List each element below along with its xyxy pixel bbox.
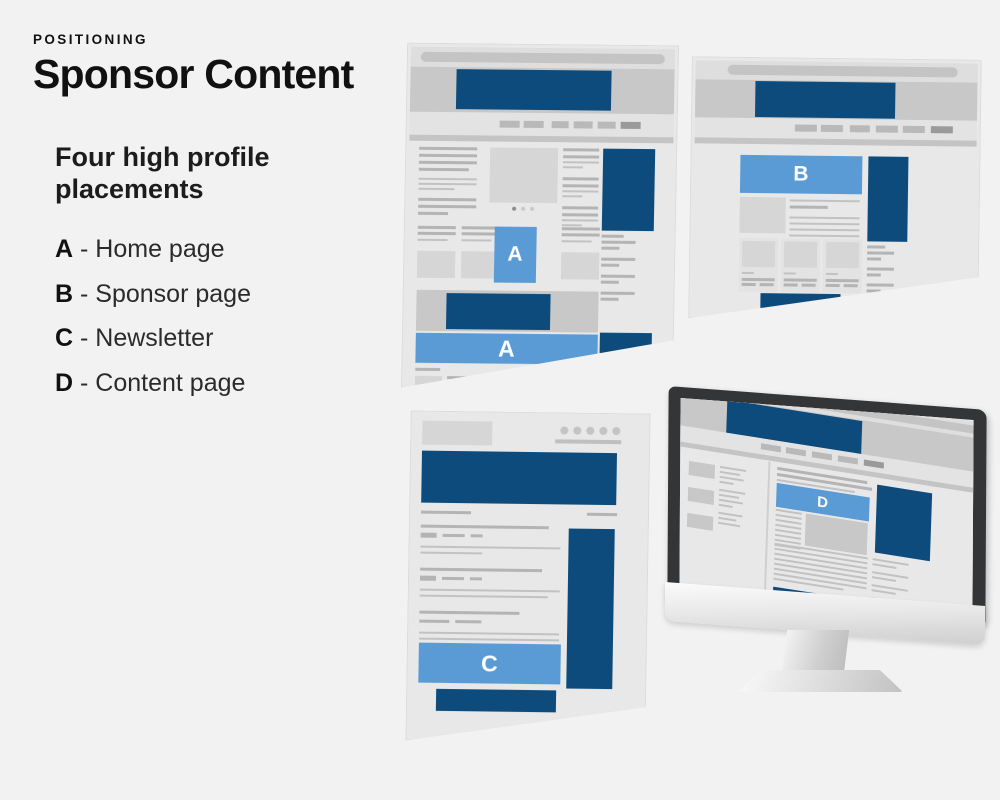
- nav-item[interactable]: [821, 125, 843, 132]
- eyebrow-label: POSITIONING: [33, 32, 393, 47]
- nav-item[interactable]: [598, 122, 616, 129]
- card[interactable]: [781, 238, 821, 292]
- article-right-column: [562, 148, 601, 226]
- sidebar-ad-top: [602, 149, 655, 232]
- newsletter-mockup: C: [405, 410, 650, 743]
- content-column-divider: [763, 461, 770, 610]
- list-item: A - Home page: [55, 227, 393, 272]
- nav-item[interactable]: [552, 121, 569, 128]
- page-title: Sponsor Content: [33, 53, 393, 96]
- legend-key: D: [55, 369, 73, 397]
- legend-label: Sponsor page: [95, 280, 251, 308]
- monitor-base: [738, 670, 903, 692]
- legend-dash: -: [80, 324, 88, 352]
- article-left-column: [418, 147, 484, 216]
- sidebar-ad: [875, 485, 932, 562]
- nav-item-active[interactable]: [864, 459, 884, 468]
- feature-image-placeholder: [739, 197, 786, 234]
- placement-b-banner: B: [740, 155, 863, 194]
- legend-label: Content page: [95, 369, 245, 397]
- legend-dash: -: [80, 280, 88, 308]
- hero-image-placeholder: [489, 147, 558, 203]
- kicker-rule-left: [421, 511, 471, 515]
- masthead-ad-banner: [755, 81, 896, 119]
- placement-label-c: C: [481, 650, 499, 677]
- nav-item-active[interactable]: [931, 126, 953, 133]
- sidebar-ad-bottom: [599, 333, 652, 372]
- sidebar-ad: [867, 156, 908, 241]
- content-page-monitor-mockup: D: [660, 398, 1000, 688]
- nav-item[interactable]: [786, 447, 806, 456]
- placement-legend: A - Home page B - Sponsor page C - Newsl…: [55, 227, 393, 405]
- feature-strip-ad: [446, 293, 551, 330]
- nav-item[interactable]: [795, 125, 817, 132]
- card[interactable]: [823, 239, 863, 293]
- carousel-dots[interactable]: [512, 207, 538, 211]
- home-page-mockup: A A: [401, 43, 679, 391]
- placement-label-b: B: [793, 162, 809, 186]
- social-icons-row[interactable]: [560, 426, 622, 435]
- nav-item[interactable]: [812, 451, 832, 460]
- nav-item[interactable]: [500, 121, 520, 128]
- content-left-sidebar: [689, 461, 761, 472]
- newsletter-header-banner: [421, 451, 617, 506]
- nav-item[interactable]: [524, 121, 544, 128]
- sidebar-link-list: [600, 235, 639, 301]
- placement-a-banner: A: [415, 333, 598, 365]
- placement-c-banner: C: [418, 643, 561, 685]
- kicker-rule-right: [587, 513, 617, 516]
- nav-item[interactable]: [761, 443, 781, 452]
- nav-item[interactable]: [838, 455, 858, 464]
- legend-dash: -: [80, 369, 88, 397]
- legend-key: A: [55, 235, 73, 263]
- nav-item[interactable]: [876, 125, 898, 132]
- nav-item[interactable]: [850, 125, 870, 132]
- footer-ad-banner: [760, 293, 840, 318]
- nav-item[interactable]: [903, 126, 925, 133]
- slide-text-panel: POSITIONING Sponsor Content Four high pr…: [33, 32, 393, 405]
- sponsor-page-mockup: B: [688, 56, 982, 321]
- placement-label-d: D: [817, 493, 829, 512]
- list-item: C - Newsletter: [55, 316, 393, 361]
- list-item: D - Content page: [55, 361, 393, 406]
- list-item: B - Sponsor page: [55, 272, 393, 317]
- social-icon: [586, 427, 594, 435]
- legend-label: Home page: [95, 235, 224, 263]
- legend-key: B: [55, 280, 73, 308]
- placement-label-a-tile: A: [507, 243, 523, 267]
- legend-key: C: [55, 324, 73, 352]
- subtitle: Four high profile placements: [55, 142, 393, 205]
- social-icon: [599, 427, 607, 435]
- social-icon: [560, 426, 568, 434]
- content-page-surface: D: [679, 398, 973, 610]
- monitor-screen: D: [679, 398, 973, 610]
- social-icon: [573, 427, 581, 435]
- placement-a-tile: A: [494, 227, 537, 283]
- header-rule: [555, 439, 621, 444]
- story-list: [419, 525, 561, 648]
- social-icon: [612, 427, 620, 435]
- sidebar-link-list: [866, 245, 897, 308]
- nav-bar: [409, 112, 673, 138]
- footer-ad-banner: [436, 689, 556, 713]
- card[interactable]: [739, 238, 779, 292]
- newsletter-logo: [422, 421, 492, 446]
- nav-item[interactable]: [574, 121, 593, 128]
- legend-dash: -: [80, 235, 88, 263]
- nav-item-active[interactable]: [621, 122, 641, 129]
- placement-label-a-banner: A: [498, 335, 516, 362]
- legend-label: Newsletter: [95, 324, 213, 352]
- sidebar-ad-tall: [566, 529, 615, 690]
- masthead-ad-banner: [456, 69, 612, 111]
- feature-text: [789, 199, 862, 237]
